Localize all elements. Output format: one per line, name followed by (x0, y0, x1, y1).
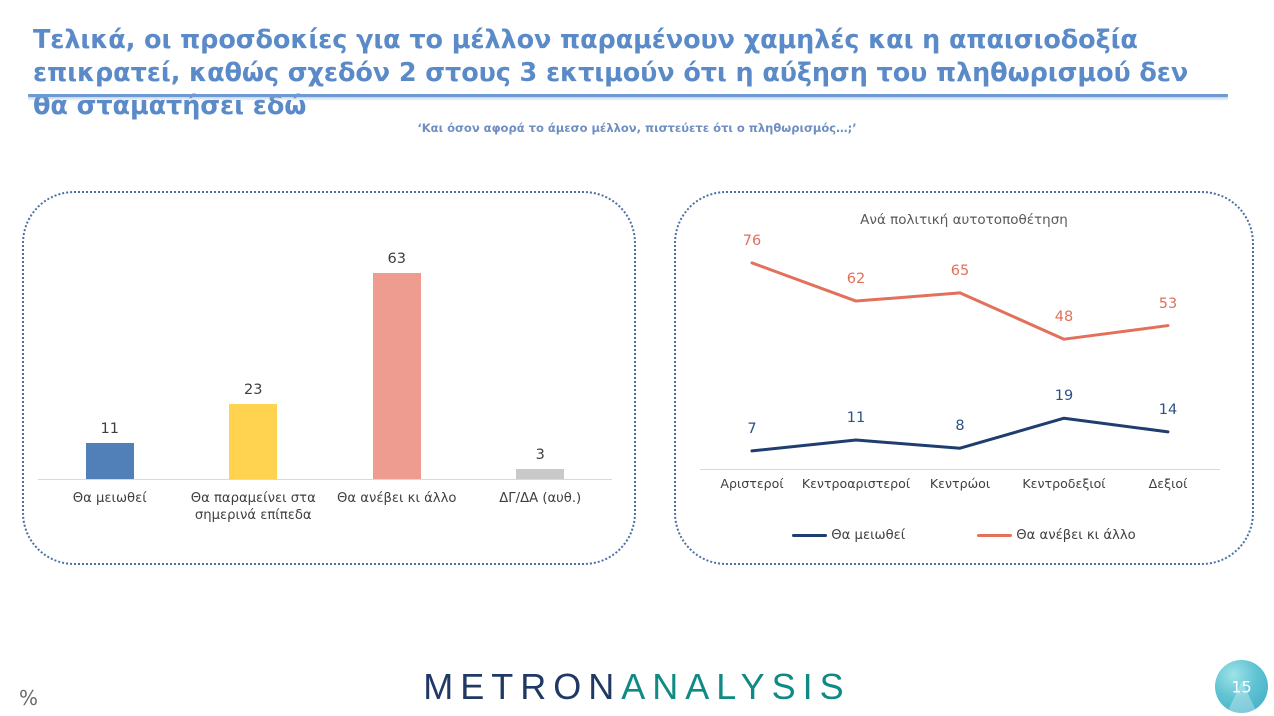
legend-label: Θα μειωθεί (831, 528, 905, 543)
bar-group: 3ΔΓ/ΔΑ (αυθ.) (469, 250, 613, 479)
title-divider-shadow (28, 97, 1228, 101)
line-chart-title: Ανά πολιτική αυτοτοποθέτηση (674, 212, 1254, 228)
metron-analysis-logo: METRONANALYSIS (0, 666, 1274, 708)
line-point-value-label: 62 (847, 271, 865, 287)
page-title: Τελικά, οι προσδοκίες για το μέλλον παρα… (33, 24, 1213, 123)
bar-rect[interactable] (86, 443, 134, 479)
legend-item[interactable]: Θα μειωθεί (792, 528, 905, 543)
bar-column[interactable]: 11Θα μειωθεί (86, 443, 134, 479)
line-category-label: Κεντρώοι (930, 476, 990, 491)
line-chart: 766265485371181914ΑριστεροίΚεντροαριστερ… (700, 252, 1220, 470)
line-category-label: Κεντροδεξιοί (1022, 476, 1105, 491)
legend-color-swatch (792, 534, 827, 537)
line-category-label: Δεξιοί (1149, 476, 1188, 491)
line-chart-axis (700, 469, 1220, 470)
line-point-value-label: 48 (1055, 309, 1073, 325)
line-category-label: Αριστεροί (720, 476, 783, 491)
page-number: 15 (1215, 677, 1268, 696)
bar-category-label: Θα μειωθεί (30, 490, 190, 507)
line-category-label: Κεντροαριστεροί (802, 476, 910, 491)
page-number-badge: 15 (1215, 660, 1268, 713)
logo-analysis: ANALYSIS (621, 666, 850, 707)
bar-chart: 11Θα μειωθεί23Θα παραμείνει στα σημερινά… (38, 250, 612, 480)
bar-group: 23Θα παραμείνει στα σημερινά επίπεδα (182, 250, 326, 479)
bar-value-label: 23 (244, 382, 262, 398)
bar-group: 11Θα μειωθεί (38, 250, 182, 479)
line-chart-svg (700, 252, 1220, 470)
legend-label: Θα ανέβει κι άλλο (1016, 528, 1135, 543)
bar-rect[interactable] (229, 404, 277, 479)
bar-value-label: 11 (101, 421, 119, 437)
bar-column[interactable]: 23Θα παραμείνει στα σημερινά επίπεδα (229, 404, 277, 479)
bar-column[interactable]: 3ΔΓ/ΔΑ (αυθ.) (516, 469, 564, 479)
bar-rect[interactable] (516, 469, 564, 479)
line-point-value-label: 11 (847, 410, 865, 426)
bar-column[interactable]: 63Θα ανέβει κι άλλο (373, 273, 421, 479)
bar-category-label: Θα ανέβει κι άλλο (317, 490, 477, 507)
line-point-value-label: 19 (1055, 388, 1073, 404)
bar-value-label: 63 (388, 251, 406, 267)
line-point-value-label: 14 (1159, 402, 1177, 418)
line-point-value-label: 76 (743, 233, 761, 249)
legend-item[interactable]: Θα ανέβει κι άλλο (977, 528, 1135, 543)
line-point-value-label: 7 (747, 421, 756, 437)
bar-chart-axis (38, 479, 612, 480)
bar-rect[interactable] (373, 273, 421, 479)
logo-metron: METRON (423, 666, 621, 707)
line-point-value-label: 8 (955, 418, 964, 434)
bar-value-label: 3 (536, 447, 545, 463)
bar-category-label: Θα παραμείνει στα σημερινά επίπεδα (173, 490, 333, 524)
line-point-value-label: 65 (951, 263, 969, 279)
question-subtitle: ‘Και όσον αφορά το άμεσο μέλλον, πιστεύε… (0, 121, 1274, 135)
line-point-value-label: 53 (1159, 296, 1177, 312)
legend-color-swatch (977, 534, 1012, 537)
line-chart-legend: Θα μειωθείΘα ανέβει κι άλλο (674, 528, 1254, 543)
bar-group: 63Θα ανέβει κι άλλο (325, 250, 469, 479)
bar-category-label: ΔΓ/ΔΑ (αυθ.) (460, 490, 620, 507)
